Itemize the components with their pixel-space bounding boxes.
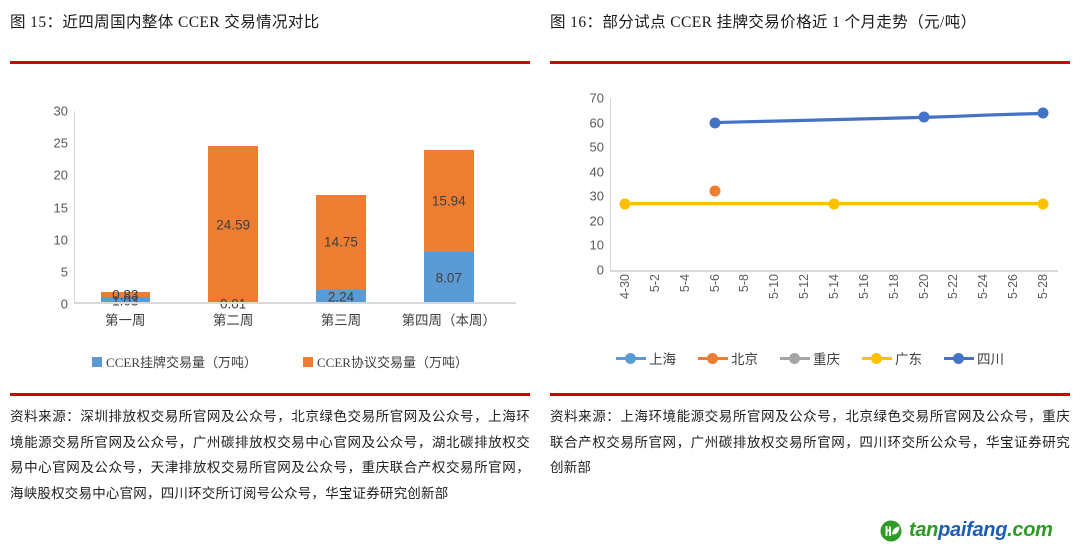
watermark-text: tanpaifang.com [909,519,1053,542]
line-y-tick: 40 [590,164,604,179]
line-x-tick: 5-6 [708,274,722,292]
bar-chart-legend: CCER挂牌交易量（万吨）CCER协议交易量（万吨） [40,352,520,371]
line-x-tick: 5-14 [827,274,841,299]
line-chart-plot-area: 4-305-25-45-65-85-105-125-145-165-185-20… [610,98,1058,270]
line-y-tick: 0 [597,263,604,278]
bar-y-tick: 10 [54,232,68,247]
bar-legend-label: CCER挂牌交易量（万吨） [106,352,257,371]
bar-chart-plot-area: 0.831.03第一周24.590.01第二周14.752.24第三周15.94… [74,111,516,304]
line-x-tick: 5-12 [797,274,811,299]
figure-16-title: 图 16：部分试点 CCER 挂牌交易价格近 1 个月走势（元/吨） [550,0,1070,36]
figure-15-top-rule [10,61,530,64]
bar-group: 14.752.24第三周 [316,195,366,304]
bar-data-label-agreement: 15.94 [432,193,466,208]
line-y-tick: 30 [590,189,604,204]
bar-legend-label: CCER协议交易量（万吨） [317,352,468,371]
line-data-point [1038,198,1049,209]
line-y-tick: 70 [590,91,604,106]
line-x-tick: 5-8 [737,274,751,292]
bar-category-label: 第三周 [321,309,362,329]
bar-y-axis-line [74,111,75,304]
line-data-point [829,198,840,209]
legend-line-marker-icon [780,352,810,364]
bar-x-axis-line [74,302,516,304]
line-series-svg [610,98,1058,270]
line-series-path [715,113,1044,122]
line-chart-legend: 上海北京重庆广东四川 [560,348,1060,368]
line-legend-label: 上海 [649,348,676,368]
figure-15-bottom-rule [10,393,530,396]
leaf-circle-icon [880,520,902,542]
bar-y-tick: 0 [61,297,68,312]
figure-16-panel: 图 16：部分试点 CCER 挂牌交易价格近 1 个月走势（元/吨） 4-305… [540,0,1080,554]
line-y-tick: 60 [590,115,604,130]
watermark: tanpaifang.com [880,519,1053,542]
bar-y-tick: 20 [54,168,68,183]
line-y-tick: 50 [590,140,604,155]
bar-group: 15.948.07第四周（本周） [424,150,474,304]
line-y-tick: 10 [590,238,604,253]
line-x-tick: 5-28 [1036,274,1050,299]
figure-15-source: 资料来源：深圳排放权交易所官网及公众号，北京绿色交易所官网及公众号，上海环境能源… [10,404,530,506]
line-x-tick: 5-18 [887,274,901,299]
bar-group: 24.590.01第二周 [208,146,258,304]
bar-data-label-agreement: 14.75 [324,235,358,250]
bar-y-tick: 30 [54,104,68,119]
legend-line-marker-icon [862,352,892,364]
bar-legend-item[interactable]: CCER协议交易量（万吨） [303,352,468,371]
legend-line-marker-icon [698,352,728,364]
bar-category-label: 第一周 [105,309,146,329]
bar-data-label-listed: 1.03 [112,293,138,308]
figure-16-source: 资料来源：上海环境能源交易所官网及公众号，北京绿色交易所官网及公众号，重庆联合产… [550,404,1070,481]
line-legend-item[interactable]: 四川 [944,348,1004,368]
bar-category-label: 第四周（本周） [402,309,497,329]
line-data-point [918,112,929,123]
bar-y-tick: 15 [54,200,68,215]
bar-y-tick: 5 [61,264,68,279]
legend-line-marker-icon [944,352,974,364]
line-data-point [709,186,720,197]
line-x-tick: 5-10 [767,274,781,299]
line-y-tick: 20 [590,213,604,228]
figure-15-title: 图 15：近四周国内整体 CCER 交易情况对比 [10,0,530,36]
watermark-text-part3: .com [1007,519,1052,541]
bar-y-tick: 25 [54,136,68,151]
bar-category-label: 第二周 [213,309,254,329]
bar-legend-item[interactable]: CCER挂牌交易量（万吨） [92,352,257,371]
line-x-axis-line [610,270,1058,272]
bar-data-label-listed: 8.07 [436,271,462,286]
legend-swatch-icon [92,357,102,367]
line-x-tick: 4-30 [618,274,632,299]
line-x-tick: 5-26 [1006,274,1020,299]
line-data-point [619,198,630,209]
figure-15-panel: 图 15：近四周国内整体 CCER 交易情况对比 0.831.03第一周24.5… [0,0,540,554]
line-x-tick: 5-2 [648,274,662,292]
line-legend-item[interactable]: 北京 [698,348,758,368]
watermark-text-part2: paifang [938,519,1007,541]
line-x-tick: 5-20 [917,274,931,299]
bar-data-label-agreement: 24.59 [216,217,250,232]
line-x-tick: 5-4 [678,274,692,292]
figure-16-top-rule [550,61,1070,64]
line-data-point [709,117,720,128]
line-legend-label: 重庆 [813,348,840,368]
legend-line-marker-icon [616,352,646,364]
line-legend-label: 广东 [895,348,922,368]
line-legend-item[interactable]: 广东 [862,348,922,368]
line-x-tick: 5-22 [946,274,960,299]
line-legend-label: 四川 [977,348,1004,368]
line-data-point [1038,108,1049,119]
line-x-tick: 5-24 [976,274,990,299]
line-legend-label: 北京 [731,348,758,368]
line-y-axis-line [610,98,611,270]
watermark-text-part1: tan [909,519,938,541]
line-x-tick: 5-16 [857,274,871,299]
ccer-weekly-volume-bar-chart: 0.831.03第一周24.590.01第二周14.752.24第三周15.94… [22,105,522,330]
legend-swatch-icon [303,357,313,367]
line-legend-item[interactable]: 重庆 [780,348,840,368]
figure-16-bottom-rule [550,393,1070,396]
ccer-pilot-price-line-chart: 4-305-25-45-65-85-105-125-145-165-185-20… [562,92,1062,332]
line-legend-item[interactable]: 上海 [616,348,676,368]
